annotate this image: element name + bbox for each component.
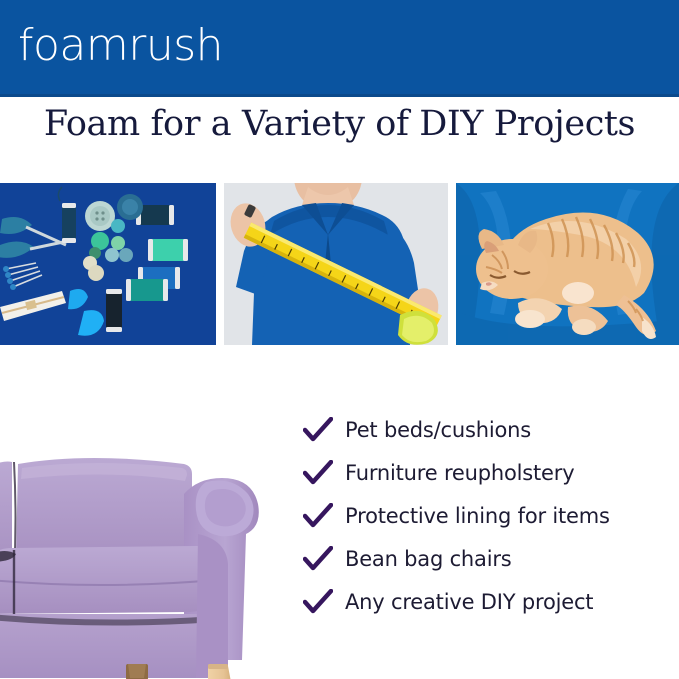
check-icon bbox=[303, 589, 345, 615]
list-item: Furniture reupholstery bbox=[303, 451, 679, 494]
lavender-sofa-illustration bbox=[0, 430, 290, 679]
check-icon bbox=[303, 503, 345, 529]
foamrush-logo[interactable]: foamrush bbox=[18, 24, 223, 68]
benefit-label: Any creative DIY project bbox=[345, 590, 593, 614]
list-item: Bean bag chairs bbox=[303, 537, 679, 580]
page-title: Foam for a Variety of DIY Projects bbox=[0, 104, 679, 144]
check-icon bbox=[303, 546, 345, 572]
sewing-supplies-photo bbox=[0, 183, 216, 345]
benefit-label: Protective lining for items bbox=[345, 504, 610, 528]
benefits-list: Pet beds/cushions Furniture reupholstery… bbox=[303, 408, 679, 623]
list-item: Protective lining for items bbox=[303, 494, 679, 537]
photo-strip bbox=[0, 183, 679, 345]
list-item: Any creative DIY project bbox=[303, 580, 679, 623]
benefit-label: Furniture reupholstery bbox=[345, 461, 574, 485]
benefit-label: Bean bag chairs bbox=[345, 547, 512, 571]
list-item: Pet beds/cushions bbox=[303, 408, 679, 451]
cat-on-cushion-photo bbox=[456, 183, 679, 345]
tape-measure-photo bbox=[224, 183, 448, 345]
brand-banner: foamrush bbox=[0, 0, 679, 97]
check-icon bbox=[303, 460, 345, 486]
benefit-label: Pet beds/cushions bbox=[345, 418, 531, 442]
check-icon bbox=[303, 417, 345, 443]
